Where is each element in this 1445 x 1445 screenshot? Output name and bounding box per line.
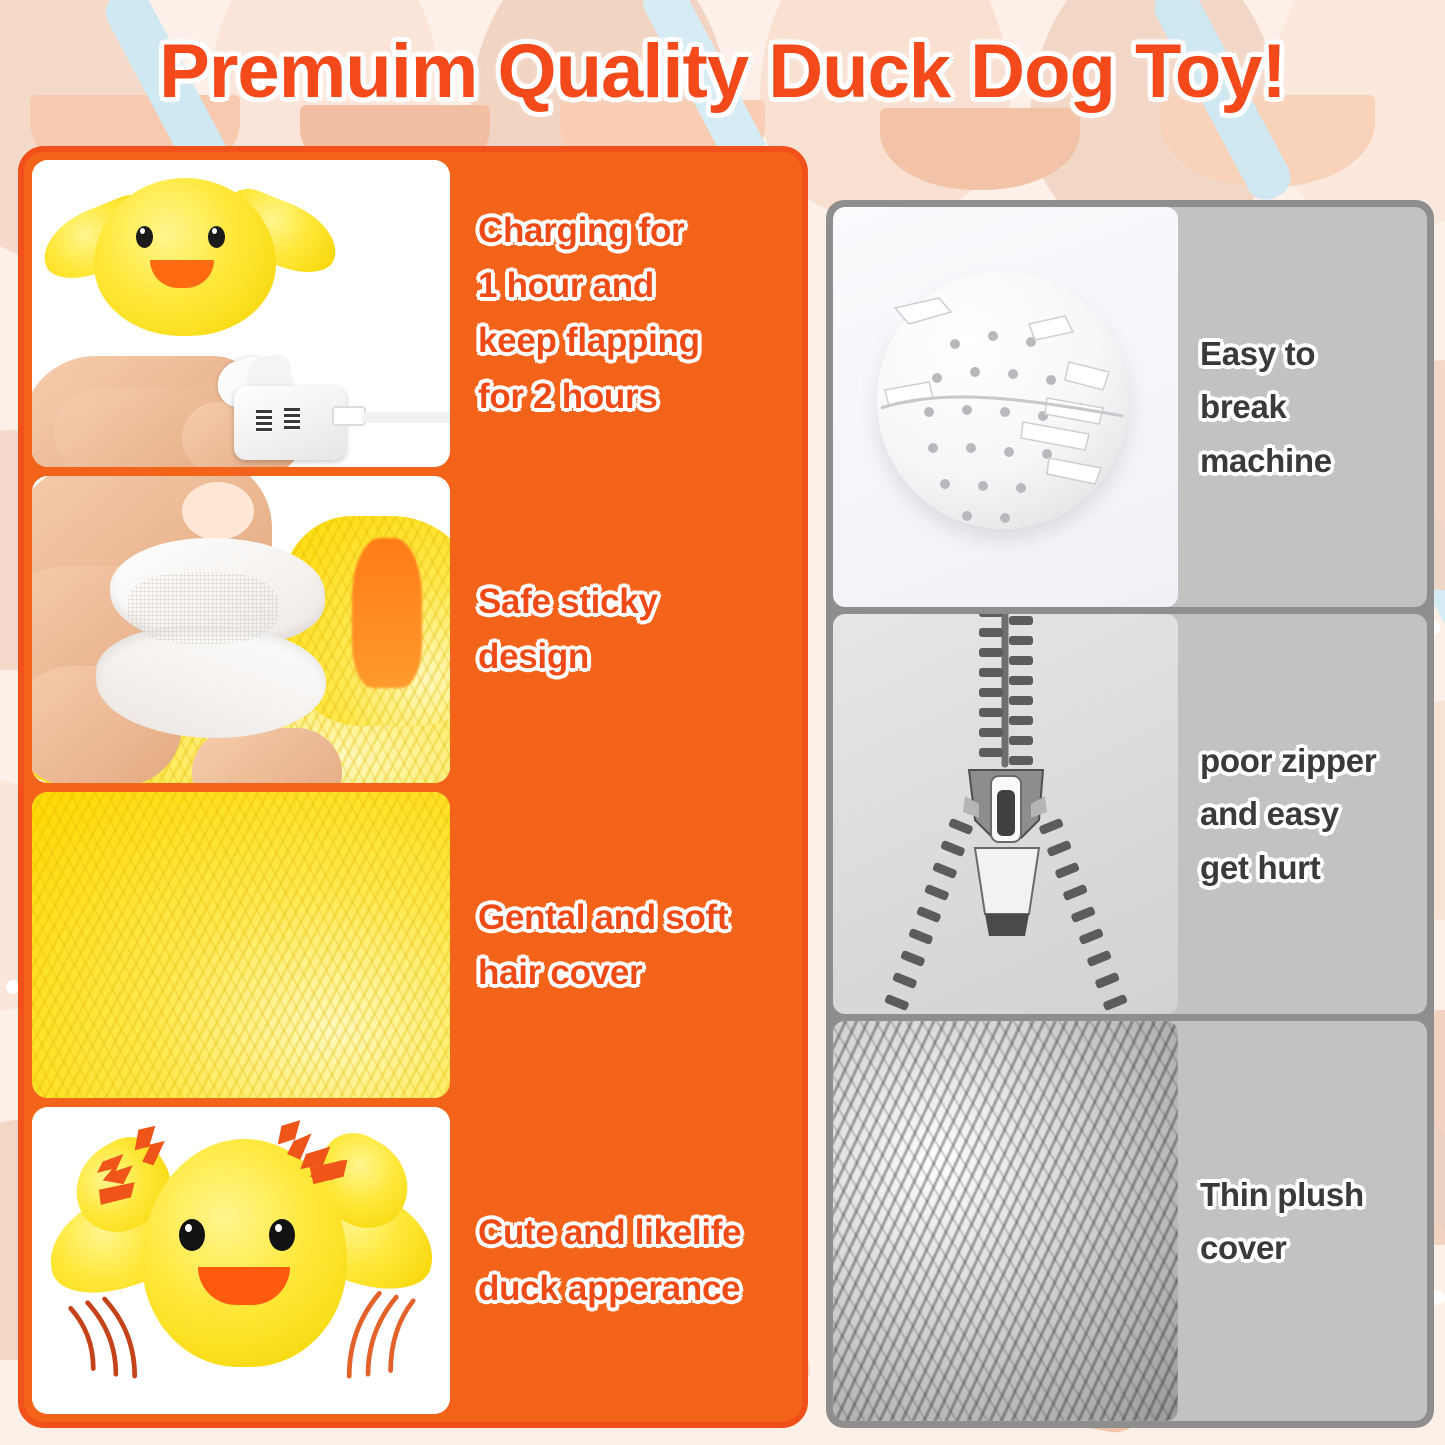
feature-line: 1 hour and <box>478 258 784 313</box>
flapping-duck-photo <box>32 1107 450 1414</box>
ball-holes-icon <box>833 207 1178 607</box>
feature-row-hair: Gental and soft hair cover <box>32 792 794 1099</box>
pros-card: Charging for 1 hour and keep flapping fo… <box>18 146 808 1428</box>
feature-row-sticky: Safe sticky design <box>32 476 794 783</box>
gray-thin-plush-photo <box>833 1021 1178 1421</box>
drawback-line: Thin plush <box>1200 1168 1419 1221</box>
feature-line: duck apperance <box>478 1261 784 1316</box>
page-title: Premuim Quality Duck Dog Toy! <box>0 28 1445 115</box>
infographic-page: Premuim Quality Duck Dog Toy! <box>0 0 1445 1445</box>
drawback-line: get hurt <box>1200 841 1419 894</box>
perforated-white-ball-photo <box>833 207 1178 607</box>
feature-text-appearance: Cute and likelife duck apperance <box>450 1107 794 1414</box>
feature-line: Safe sticky <box>478 574 784 629</box>
drawback-row-plush: Thin plush cover <box>833 1021 1427 1421</box>
drawback-row-zipper: poor zipper and easy get hurt <box>833 614 1427 1014</box>
motion-lines-icon <box>32 1107 450 1414</box>
drawback-line: machine <box>1200 434 1419 487</box>
cons-card: Easy to break machine <box>826 200 1434 1428</box>
feature-text-charging: Charging for 1 hour and keep flapping fo… <box>450 160 794 467</box>
velcro-closure-photo <box>32 476 450 783</box>
drawback-text-plush: Thin plush cover <box>1178 1021 1427 1421</box>
metal-zipper-photo <box>833 614 1178 1014</box>
feature-row-appearance: Cute and likelife duck apperance <box>32 1107 794 1414</box>
feature-line: design <box>478 629 784 684</box>
drawback-line: cover <box>1200 1221 1419 1274</box>
feature-text-hair: Gental and soft hair cover <box>450 792 794 1099</box>
feature-line: keep flapping <box>478 313 784 368</box>
feature-line: hair cover <box>478 945 784 1000</box>
feature-line: Charging for <box>478 203 784 258</box>
drawback-line: poor zipper <box>1200 734 1419 787</box>
feature-line: for 2 hours <box>478 369 784 424</box>
drawback-line: and easy <box>1200 787 1419 840</box>
feature-text-sticky: Safe sticky design <box>450 476 794 783</box>
drawback-row-break: Easy to break machine <box>833 207 1427 607</box>
duck-toy-with-charger-photo <box>32 160 450 467</box>
zipper-icon <box>833 614 1178 1014</box>
feature-line: Cute and likelife <box>478 1205 784 1260</box>
yellow-fur-closeup-photo <box>32 792 450 1099</box>
feature-line: Gental and soft <box>478 890 784 945</box>
drawback-line: break <box>1200 380 1419 433</box>
drawback-text-break: Easy to break machine <box>1178 207 1427 607</box>
feature-row-charging: Charging for 1 hour and keep flapping fo… <box>32 160 794 467</box>
drawback-text-zipper: poor zipper and easy get hurt <box>1178 614 1427 1014</box>
drawback-line: Easy to <box>1200 327 1419 380</box>
